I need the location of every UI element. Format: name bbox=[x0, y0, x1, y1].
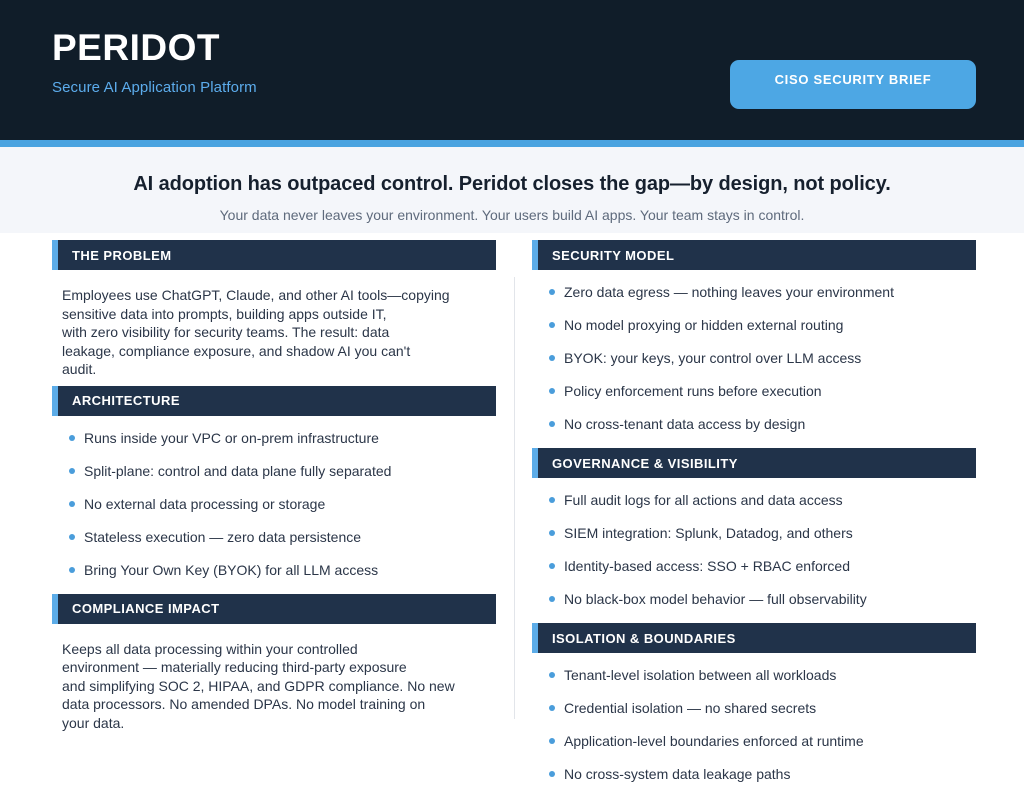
list-item: No external data processing or storage bbox=[52, 495, 496, 513]
list-item-label: Split-plane: control and data plane full… bbox=[84, 463, 391, 479]
list-item: No model proxying or hidden external rou… bbox=[532, 316, 976, 334]
section-header-isolation-boundaries: ISOLATION & BOUNDARIES bbox=[532, 623, 976, 653]
list-item: SIEM integration: Splunk, Datadog, and o… bbox=[532, 524, 976, 542]
list-item-label: No black-box model behavior — full obser… bbox=[564, 591, 867, 607]
isolation-bullet-list: Tenant-level isolation between all workl… bbox=[532, 666, 976, 783]
column-divider bbox=[514, 277, 515, 719]
list-item-label: Stateless execution — zero data persiste… bbox=[84, 529, 361, 545]
section-header-security-model: SECURITY MODEL bbox=[532, 240, 976, 270]
compliance-body-text: Keeps all data processing within your co… bbox=[62, 640, 496, 733]
list-item: Split-plane: control and data plane full… bbox=[52, 462, 496, 480]
page-header: PERIDOT Secure AI Application Platform C… bbox=[0, 0, 1024, 140]
right-column: SECURITY MODEL Zero data egress — nothin… bbox=[532, 233, 976, 798]
section-title: SECURITY MODEL bbox=[552, 248, 674, 263]
bullet-dot-icon bbox=[69, 435, 75, 441]
list-item-label: Credential isolation — no shared secrets bbox=[564, 700, 816, 716]
list-item: Application-level boundaries enforced at… bbox=[532, 732, 976, 750]
list-item: Policy enforcement runs before execution bbox=[532, 382, 976, 400]
bullet-dot-icon bbox=[549, 388, 555, 394]
list-item: Credential isolation — no shared secrets bbox=[532, 699, 976, 717]
bullet-dot-icon bbox=[549, 322, 555, 328]
list-item: BYOK: your keys, your control over LLM a… bbox=[532, 349, 976, 367]
section-header-the-problem: THE PROBLEM bbox=[52, 240, 496, 270]
section-title: THE PROBLEM bbox=[72, 248, 172, 263]
section-title: GOVERNANCE & VISIBILITY bbox=[552, 456, 738, 471]
security-model-bullet-list: Zero data egress — nothing leaves your e… bbox=[532, 283, 976, 433]
list-item-label: Bring Your Own Key (BYOK) for all LLM ac… bbox=[84, 562, 378, 578]
ciso-security-brief-badge: CISO SECURITY BRIEF bbox=[730, 60, 976, 109]
list-item-label: SIEM integration: Splunk, Datadog, and o… bbox=[564, 525, 853, 541]
list-item: Identity-based access: SSO + RBAC enforc… bbox=[532, 557, 976, 575]
problem-body-text: Employees use ChatGPT, Claude, and other… bbox=[62, 286, 496, 379]
list-item: Full audit logs for all actions and data… bbox=[532, 491, 976, 509]
brand-subtitle: Secure AI Application Platform bbox=[52, 78, 257, 98]
section-header-governance-visibility: GOVERNANCE & VISIBILITY bbox=[532, 448, 976, 478]
list-item-label: No model proxying or hidden external rou… bbox=[564, 317, 843, 333]
list-item: Stateless execution — zero data persiste… bbox=[52, 528, 496, 546]
banner-subhead: Your data never leaves your environment.… bbox=[0, 205, 1024, 225]
section-header-architecture: ARCHITECTURE bbox=[52, 386, 496, 416]
bullet-dot-icon bbox=[549, 738, 555, 744]
list-item: No cross-system data leakage paths bbox=[532, 765, 976, 783]
list-item-label: No cross-tenant data access by design bbox=[564, 416, 805, 432]
list-item-label: BYOK: your keys, your control over LLM a… bbox=[564, 350, 861, 366]
bullet-dot-icon bbox=[549, 596, 555, 602]
list-item: Runs inside your VPC or on-prem infrastr… bbox=[52, 429, 496, 447]
bullet-dot-icon bbox=[549, 421, 555, 427]
list-item-label: No cross-system data leakage paths bbox=[564, 766, 790, 782]
list-item-label: Full audit logs for all actions and data… bbox=[564, 492, 843, 508]
list-item: Tenant-level isolation between all workl… bbox=[532, 666, 976, 684]
bullet-dot-icon bbox=[69, 567, 75, 573]
list-item: No black-box model behavior — full obser… bbox=[532, 590, 976, 608]
list-item-label: No external data processing or storage bbox=[84, 496, 325, 512]
content-columns: THE PROBLEM Employees use ChatGPT, Claud… bbox=[0, 233, 1024, 719]
list-item-label: Identity-based access: SSO + RBAC enforc… bbox=[564, 558, 850, 574]
bullet-dot-icon bbox=[69, 468, 75, 474]
brand-block: PERIDOT Secure AI Application Platform bbox=[52, 26, 257, 98]
list-item-label: Tenant-level isolation between all workl… bbox=[564, 667, 836, 683]
bullet-dot-icon bbox=[549, 530, 555, 536]
list-item-label: Zero data egress — nothing leaves your e… bbox=[564, 284, 894, 300]
header-accent-rule bbox=[0, 140, 1024, 147]
bullet-dot-icon bbox=[549, 289, 555, 295]
section-header-compliance-impact: COMPLIANCE IMPACT bbox=[52, 594, 496, 624]
section-title: ARCHITECTURE bbox=[72, 393, 180, 408]
section-title: COMPLIANCE IMPACT bbox=[72, 601, 220, 616]
bullet-dot-icon bbox=[549, 497, 555, 503]
list-item-label: Application-level boundaries enforced at… bbox=[564, 733, 864, 749]
bullet-dot-icon bbox=[69, 501, 75, 507]
list-item-label: Policy enforcement runs before execution bbox=[564, 383, 822, 399]
brand-title: PERIDOT bbox=[52, 26, 257, 70]
bullet-dot-icon bbox=[69, 534, 75, 540]
hero-banner: AI adoption has outpaced control. Perido… bbox=[0, 147, 1024, 233]
bullet-dot-icon bbox=[549, 563, 555, 569]
list-item: No cross-tenant data access by design bbox=[532, 415, 976, 433]
architecture-bullet-list: Runs inside your VPC or on-prem infrastr… bbox=[52, 429, 496, 579]
list-item-label: Runs inside your VPC or on-prem infrastr… bbox=[84, 430, 379, 446]
bullet-dot-icon bbox=[549, 355, 555, 361]
bullet-dot-icon bbox=[549, 672, 555, 678]
section-title: ISOLATION & BOUNDARIES bbox=[552, 631, 736, 646]
banner-headline: AI adoption has outpaced control. Perido… bbox=[0, 171, 1024, 197]
badge-label: CISO SECURITY BRIEF bbox=[730, 60, 976, 87]
list-item: Zero data egress — nothing leaves your e… bbox=[532, 283, 976, 301]
list-item: Bring Your Own Key (BYOK) for all LLM ac… bbox=[52, 561, 496, 579]
governance-bullet-list: Full audit logs for all actions and data… bbox=[532, 491, 976, 608]
left-column: THE PROBLEM Employees use ChatGPT, Claud… bbox=[52, 233, 496, 732]
bullet-dot-icon bbox=[549, 705, 555, 711]
bullet-dot-icon bbox=[549, 771, 555, 777]
